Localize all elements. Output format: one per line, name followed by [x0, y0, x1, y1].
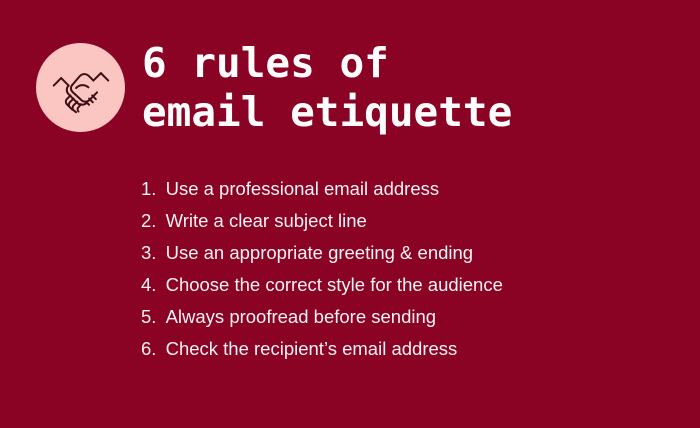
list-item-label: Check the recipient’s email address [166, 333, 458, 365]
list-item-number: 1. [141, 173, 156, 205]
list-item: 1. Use a professional email address [141, 173, 661, 205]
list-item: 2. Write a clear subject line [141, 205, 661, 237]
handshake-icon-badge [36, 43, 125, 132]
list-item-number: 5. [141, 301, 156, 333]
list-item: 4. Choose the correct style for the audi… [141, 269, 661, 301]
page-title-line-1: 6 rules of [142, 39, 682, 88]
list-item-label: Always proofread before sending [166, 301, 436, 333]
list-item-label: Use a professional email address [166, 173, 440, 205]
list-item-label: Use an appropriate greeting & ending [166, 237, 474, 269]
list-item: 6. Check the recipient’s email address [141, 333, 661, 365]
list-item-number: 4. [141, 269, 156, 301]
rules-list: 1. Use a professional email address 2. W… [141, 173, 661, 365]
list-item: 5. Always proofread before sending [141, 301, 661, 333]
page-title-line-2: email etiquette [142, 88, 682, 137]
infographic-card: 6 rules of email etiquette 1. Use a prof… [0, 0, 700, 428]
header: 6 rules of email etiquette [0, 0, 700, 160]
list-item-number: 2. [141, 205, 156, 237]
list-item-number: 6. [141, 333, 156, 365]
list-item-label: Choose the correct style for the audienc… [166, 269, 503, 301]
page-title: 6 rules of email etiquette [142, 39, 682, 137]
list-item-number: 3. [141, 237, 156, 269]
list-item-label: Write a clear subject line [166, 205, 367, 237]
list-item: 3. Use an appropriate greeting & ending [141, 237, 661, 269]
handshake-icon [50, 57, 112, 119]
